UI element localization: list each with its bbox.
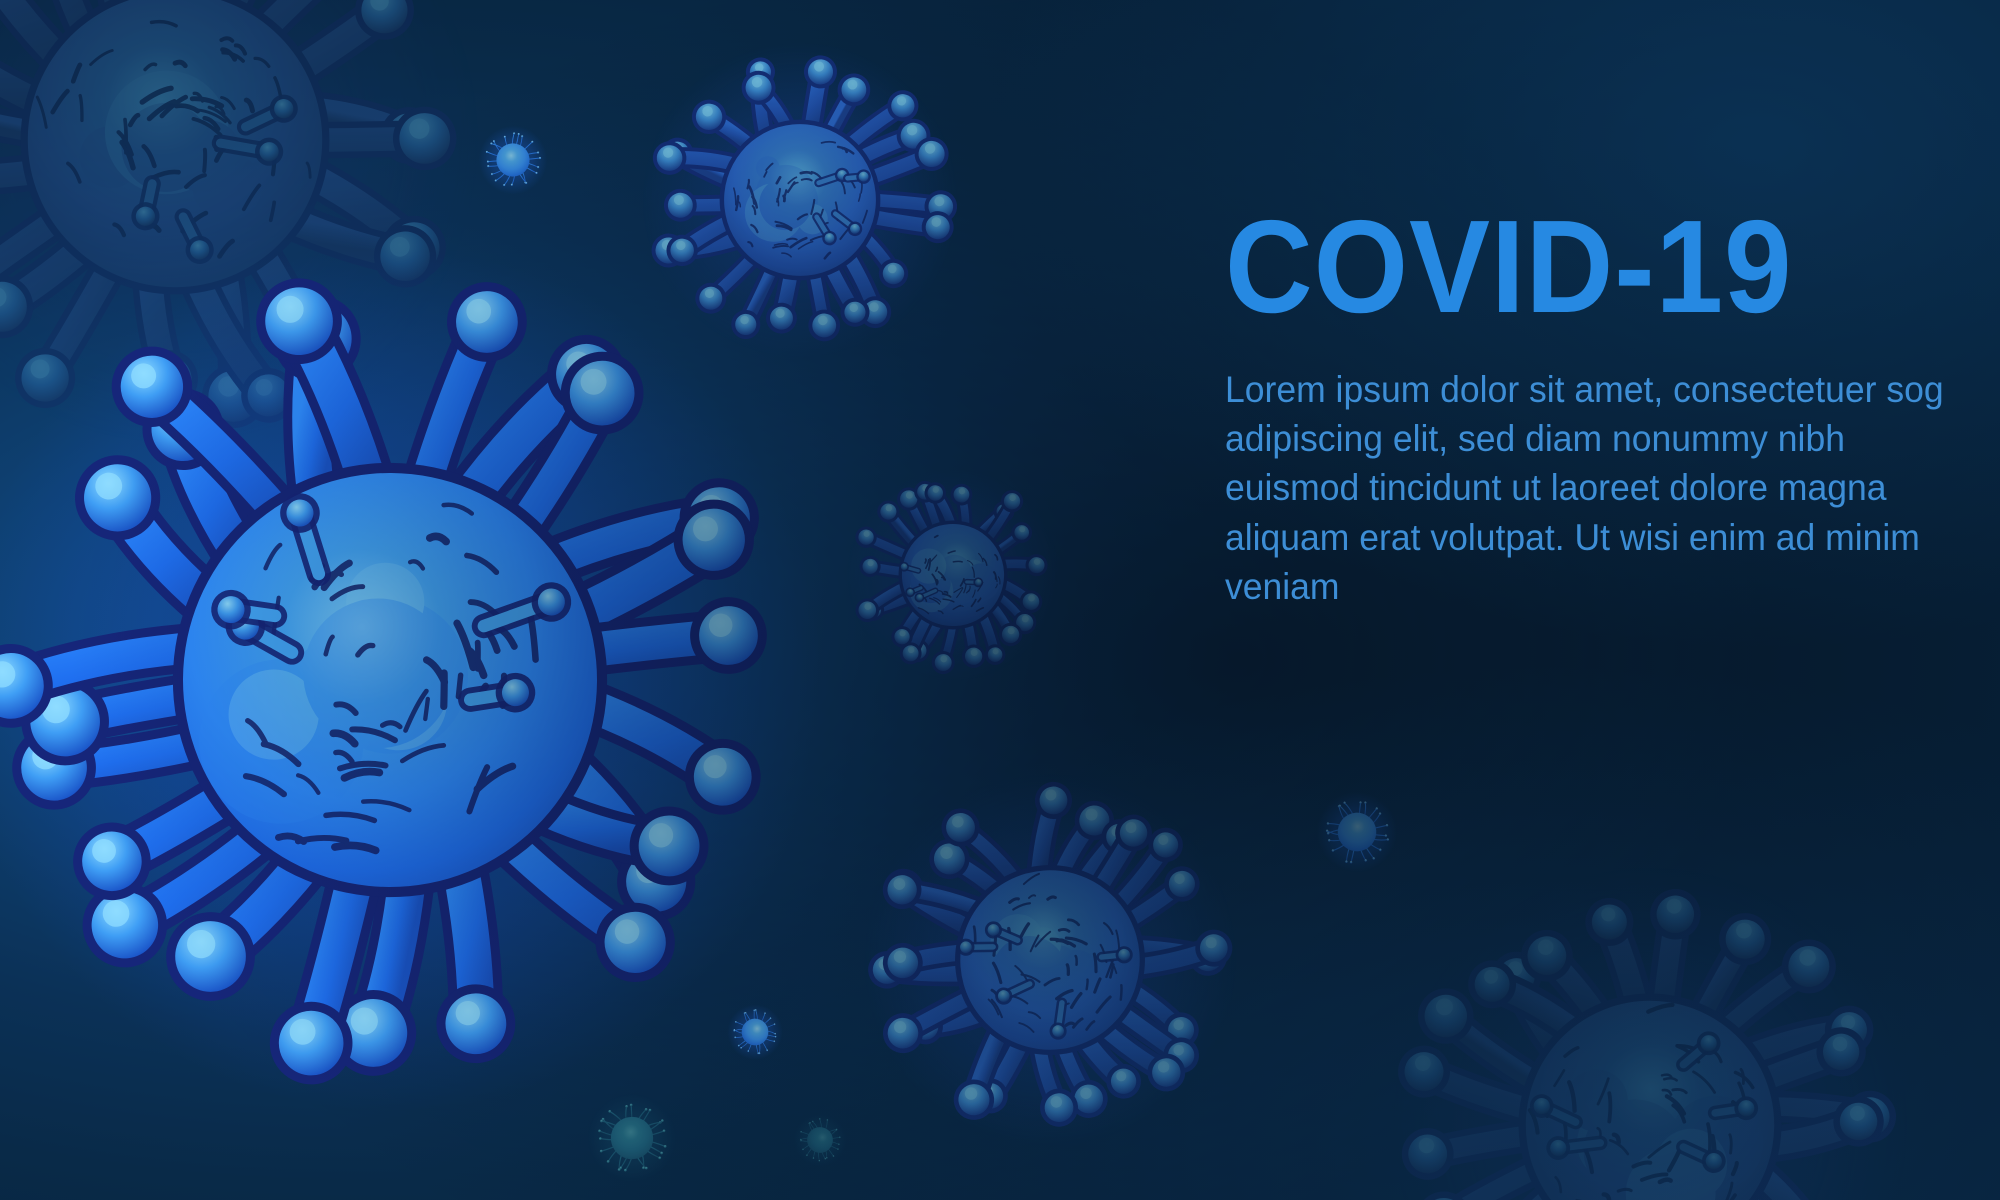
page-title: COVID-19 xyxy=(1225,205,1920,329)
text-content-block: COVID-19 Lorem ipsum dolor sit amet, con… xyxy=(1225,205,1980,611)
covid-banner: COVID-19 Lorem ipsum dolor sit amet, con… xyxy=(0,0,2000,1200)
body-paragraph: Lorem ipsum dolor sit amet, consectetuer… xyxy=(1225,365,1950,611)
